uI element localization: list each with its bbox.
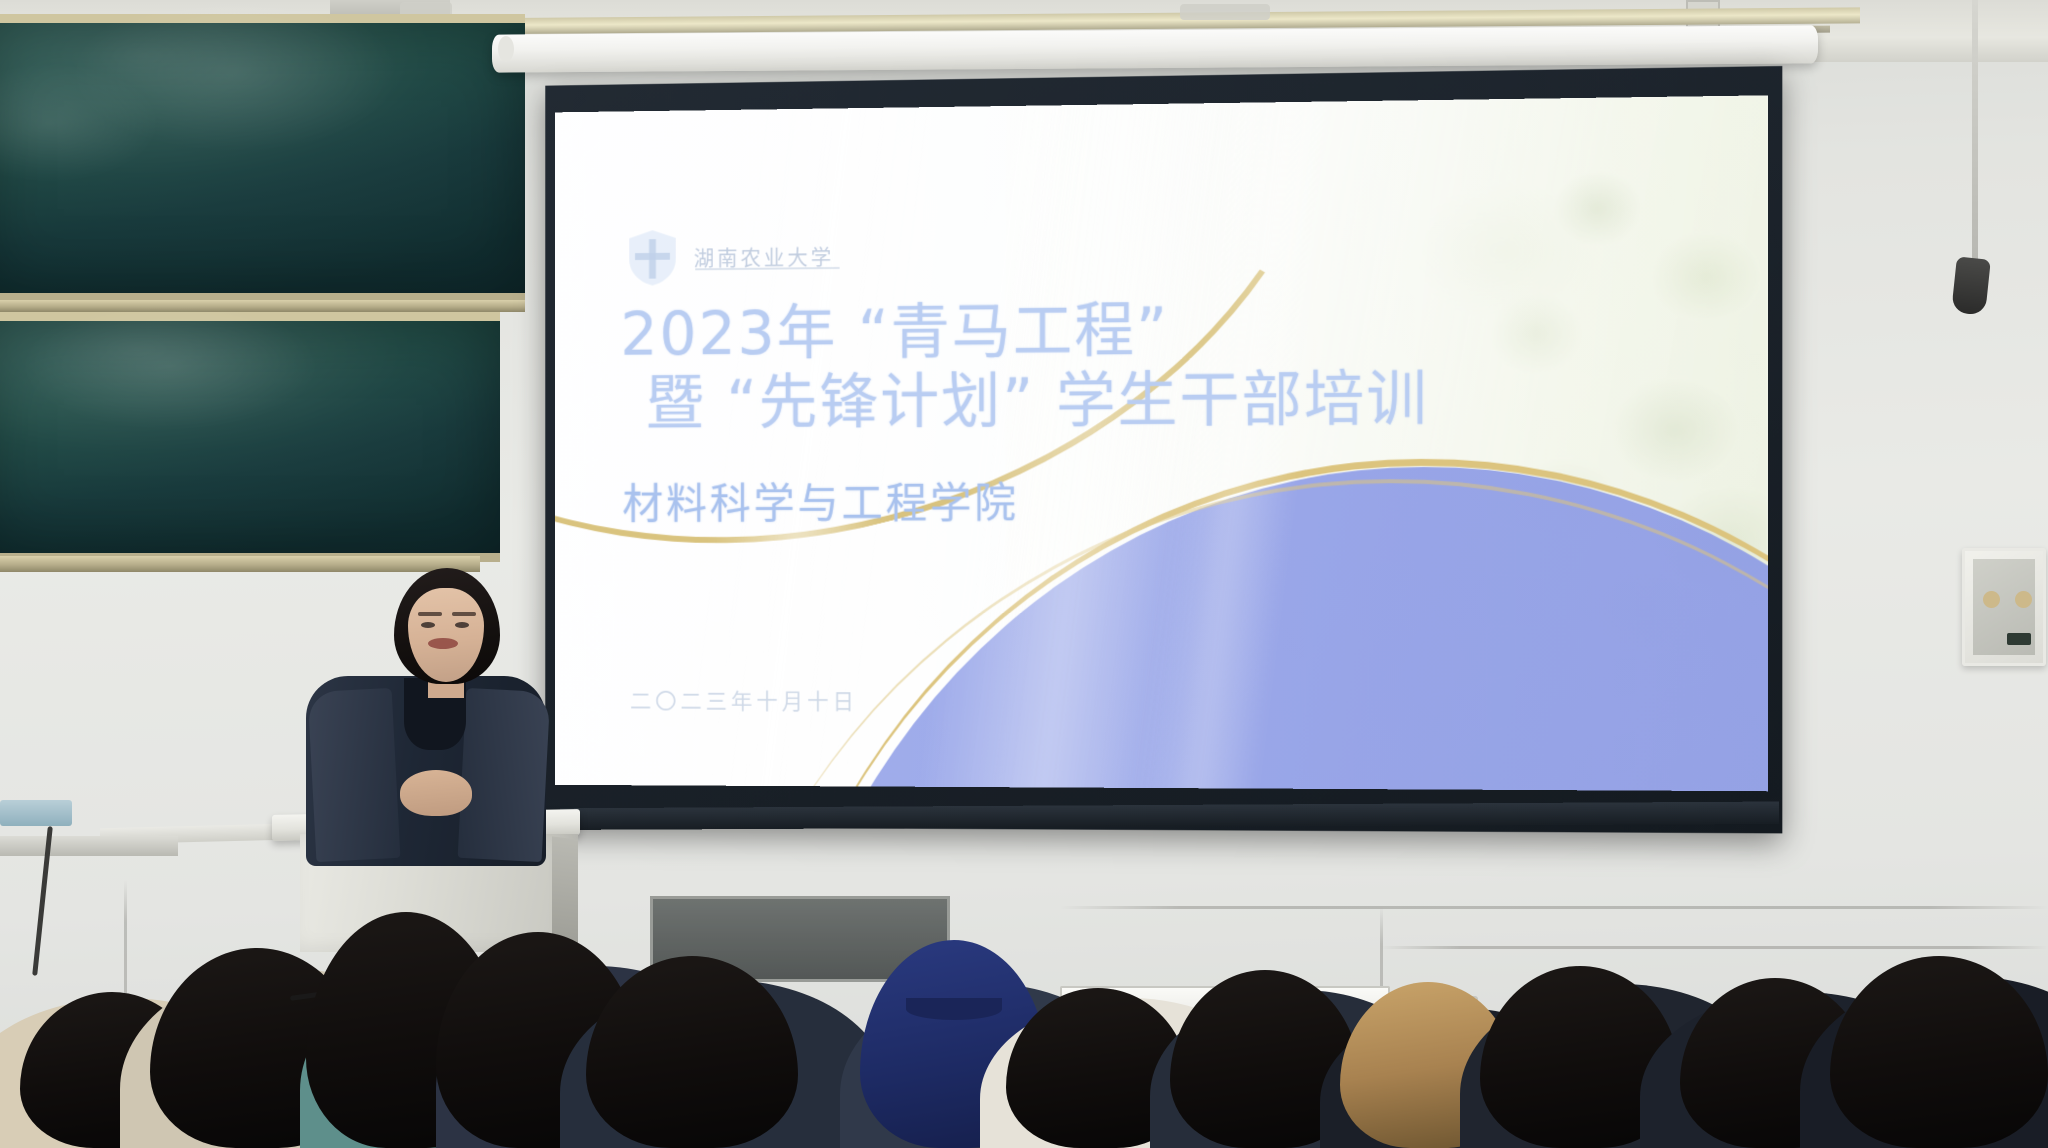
ceiling-speaker-cable: [1972, 0, 1978, 268]
audience-cap-brim-icon: [906, 998, 1002, 1020]
control-panel-display: [2007, 633, 2031, 645]
projector-screen-surface[interactable]: 湖南农业大学 2023年 “青马工程” 暨 “先锋计划” 学生干部培训 材料科学…: [555, 95, 1768, 791]
presenter-vest-left: [308, 688, 401, 862]
av-control-panel[interactable]: [1962, 548, 2046, 666]
slide-title-block: 2023年 “青马工程” 暨 “先锋计划” 学生干部培训 材料科学与工程学院: [621, 291, 1718, 532]
slide-title-line-2: 暨 “先锋计划” 学生干部培训: [646, 363, 1718, 440]
wall-seam-horizontal-2: [1380, 946, 2048, 949]
university-logo: 湖南农业大学: [628, 227, 834, 286]
chalkboard-divider-tray: [0, 300, 525, 312]
presenter-eye-left: [421, 622, 435, 628]
presenter-mouth: [428, 638, 458, 649]
chalkboard-upper: [0, 14, 525, 302]
control-knob-right[interactable]: [2015, 591, 2032, 608]
control-knob-left[interactable]: [1983, 591, 2000, 608]
chalkboard-glare-b: [0, 63, 160, 183]
podium-shelf: [0, 836, 178, 856]
presenter-brow-right: [452, 612, 476, 616]
university-shield-icon: [628, 229, 678, 287]
presenter-hands: [400, 770, 472, 816]
chalkboard-glare-c: [20, 301, 320, 431]
chalkboard-bottom-tray: [0, 556, 480, 572]
presenter-brow-left: [418, 612, 442, 616]
ceiling-fixture-b: [1180, 4, 1270, 20]
slide-title-line-1: 2023年 “青马工程”: [621, 291, 1718, 370]
wall-seam-horizontal: [1060, 906, 2048, 909]
presentation-slide: 湖南农业大学 2023年 “青马工程” 暨 “先锋计划” 学生干部培训 材料科学…: [555, 95, 1768, 791]
classroom-scene: 湖南农业大学 2023年 “青马工程” 暨 “先锋计划” 学生干部培训 材料科学…: [0, 0, 2048, 1148]
chalkboard-lower: [0, 312, 500, 562]
slide-datestamp: 二〇二三年十月十日: [630, 684, 858, 716]
slide-subtitle: 材料科学与工程学院: [623, 467, 1718, 531]
chalkboard-glare-a: [70, 0, 400, 153]
desk-object-left: [0, 800, 72, 826]
presenter-eye-right: [455, 622, 469, 628]
screen-housing-endcap: [498, 36, 514, 62]
control-panel-face: [1973, 559, 2035, 655]
presenter-vest-right: [458, 688, 551, 862]
